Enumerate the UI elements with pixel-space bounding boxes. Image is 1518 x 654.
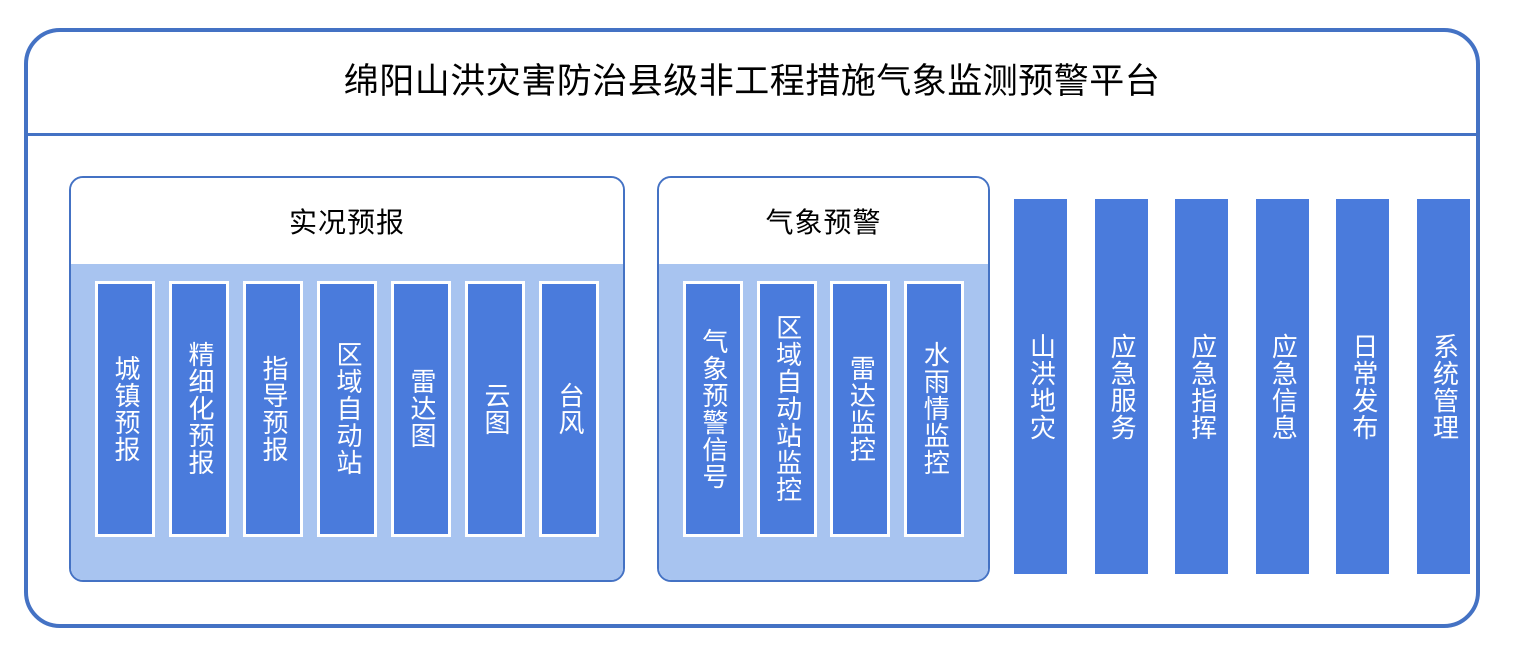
menu-item-lei-da-tu[interactable]: 雷达图 bbox=[391, 281, 451, 537]
page-title: 绵阳山洪灾害防治县级非工程措施气象监测预警平台 bbox=[344, 63, 1161, 102]
menu-item-label: 水雨情监控 bbox=[920, 341, 948, 476]
module-label: 应急信息 bbox=[1268, 333, 1296, 441]
diagram-canvas: 绵阳山洪灾害防治县级非工程措施气象监测预警平台 实况预报 城镇预报 精细化预报 … bbox=[0, 0, 1518, 654]
menu-item-label: 指导预报 bbox=[259, 355, 287, 463]
group-header-weather-warning: 气象预警 bbox=[659, 178, 988, 264]
platform-frame: 绵阳山洪灾害防治县级非工程措施气象监测预警平台 实况预报 城镇预报 精细化预报 … bbox=[24, 28, 1480, 628]
menu-item-label: 云图 bbox=[481, 382, 509, 436]
menu-item-label: 区域自动站 bbox=[333, 341, 361, 476]
menu-item-label: 精细化预报 bbox=[185, 341, 213, 476]
menu-item-qu-yu-zi-dong-zhan[interactable]: 区域自动站 bbox=[317, 281, 377, 537]
group-panel-weather-warning: 气象预警 气象预警信号 区域自动站监控 雷达监控 水雨情监控 bbox=[657, 176, 990, 582]
module-ying-ji-zhi-hui[interactable]: 应急指挥 bbox=[1175, 199, 1228, 574]
module-ying-ji-fu-wu[interactable]: 应急服务 bbox=[1095, 199, 1148, 574]
menu-item-cheng-zhen-yu-bao[interactable]: 城镇预报 bbox=[95, 281, 155, 537]
group-body-realtime-forecast: 城镇预报 精细化预报 指导预报 区域自动站 雷达图 云图 台风 bbox=[71, 264, 623, 580]
module-ri-chang-fa-bu[interactable]: 日常发布 bbox=[1336, 199, 1389, 574]
menu-item-label: 气象预警信号 bbox=[699, 328, 727, 490]
group-header-realtime-forecast: 实况预报 bbox=[71, 178, 623, 264]
menu-item-tai-feng[interactable]: 台风 bbox=[539, 281, 599, 537]
title-divider bbox=[28, 133, 1476, 136]
module-label: 日常发布 bbox=[1349, 333, 1377, 441]
menu-item-label: 区域自动站监控 bbox=[773, 314, 801, 503]
module-xi-tong-guan-li[interactable]: 系统管理 bbox=[1417, 199, 1470, 574]
module-label: 山洪地灾 bbox=[1026, 333, 1054, 441]
module-shan-hong-di-zai[interactable]: 山洪地灾 bbox=[1014, 199, 1067, 574]
group-title-realtime-forecast: 实况预报 bbox=[289, 201, 405, 241]
menu-item-yun-tu[interactable]: 云图 bbox=[465, 281, 525, 537]
module-label: 系统管理 bbox=[1429, 333, 1457, 441]
menu-item-qi-xiang-yu-jing-xin-hao[interactable]: 气象预警信号 bbox=[683, 281, 743, 537]
platform-title-bar: 绵阳山洪灾害防治县级非工程措施气象监测预警平台 bbox=[28, 32, 1476, 133]
menu-item-label: 台风 bbox=[555, 382, 583, 436]
module-label: 应急指挥 bbox=[1188, 333, 1216, 441]
menu-item-shui-yu-qing-jian-kong[interactable]: 水雨情监控 bbox=[904, 281, 964, 537]
group-panel-realtime-forecast: 实况预报 城镇预报 精细化预报 指导预报 区域自动站 雷达图 bbox=[69, 176, 625, 582]
menu-item-zhi-dao-yu-bao[interactable]: 指导预报 bbox=[243, 281, 303, 537]
module-ying-ji-xin-xi[interactable]: 应急信息 bbox=[1256, 199, 1309, 574]
module-rail: 山洪地灾 应急服务 应急指挥 应急信息 日常发布 系统管理 bbox=[1014, 199, 1470, 574]
menu-item-label: 城镇预报 bbox=[111, 355, 139, 463]
group-title-weather-warning: 气象预警 bbox=[765, 201, 881, 241]
menu-item-label: 雷达图 bbox=[407, 368, 435, 449]
menu-item-jing-xi-hua-yu-bao[interactable]: 精细化预报 bbox=[169, 281, 229, 537]
module-label: 应急服务 bbox=[1107, 333, 1135, 441]
menu-item-label: 雷达监控 bbox=[846, 355, 874, 463]
group-body-weather-warning: 气象预警信号 区域自动站监控 雷达监控 水雨情监控 bbox=[659, 264, 988, 580]
menu-item-qu-yu-zi-dong-zhan-jian-kong[interactable]: 区域自动站监控 bbox=[757, 281, 817, 537]
menu-item-lei-da-jian-kong[interactable]: 雷达监控 bbox=[830, 281, 890, 537]
